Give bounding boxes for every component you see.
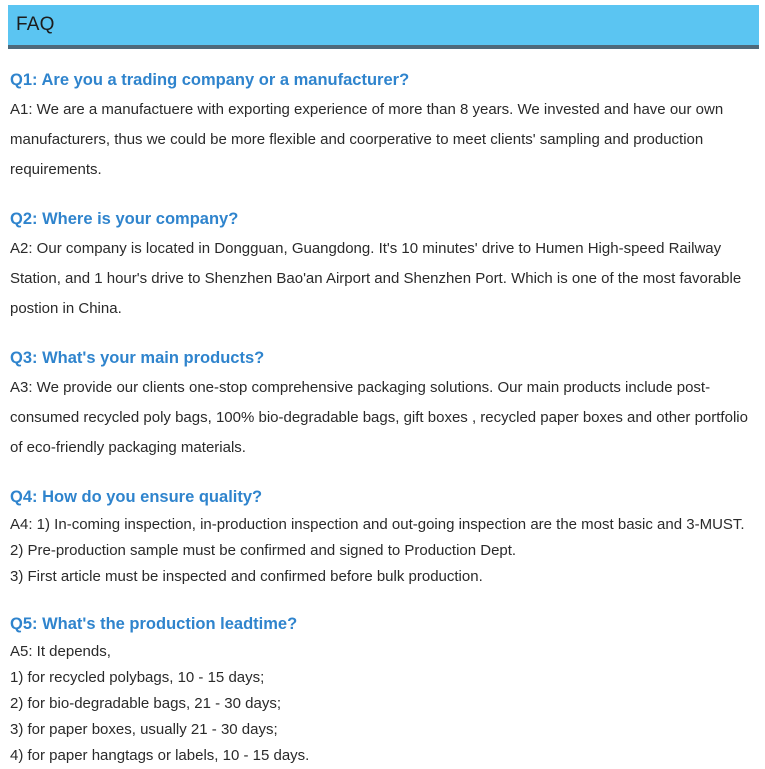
faq-answer-5: A5: It depends, 1) for recycled polybags… <box>10 639 755 769</box>
faq-content: Q1: Are you a trading company or a manuf… <box>10 68 755 769</box>
faq-answer-1: A1: We are a manufactuere with exporting… <box>10 95 755 185</box>
faq-answer-5-line-4: 3) for paper boxes, usually 21 - 30 days… <box>10 717 755 743</box>
faq-answer-5-line-3: 2) for bio-degradable bags, 21 - 30 days… <box>10 691 755 717</box>
faq-answer-4-line-3: 3) First article must be inspected and c… <box>10 564 755 590</box>
faq-answer-4: A4: 1) In-coming inspection, in-producti… <box>10 512 755 590</box>
faq-question-3: Q3: What's your main products? <box>10 346 755 370</box>
faq-item-5: Q5: What's the production leadtime? A5: … <box>10 612 755 769</box>
faq-answer-5-line-2: 1) for recycled polybags, 10 - 15 days; <box>10 665 755 691</box>
faq-item-4: Q4: How do you ensure quality? A4: 1) In… <box>10 485 755 590</box>
faq-item-1: Q1: Are you a trading company or a manuf… <box>10 68 755 185</box>
faq-question-1: Q1: Are you a trading company or a manuf… <box>10 68 755 92</box>
faq-question-5: Q5: What's the production leadtime? <box>10 612 755 636</box>
faq-answer-5-line-5: 4) for paper hangtags or labels, 10 - 15… <box>10 743 755 769</box>
faq-answer-4-line-2: 2) Pre-production sample must be confirm… <box>10 538 755 564</box>
faq-item-2: Q2: Where is your company? A2: Our compa… <box>10 207 755 324</box>
faq-question-2: Q2: Where is your company? <box>10 207 755 231</box>
faq-question-4: Q4: How do you ensure quality? <box>10 485 755 509</box>
faq-item-3: Q3: What's your main products? A3: We pr… <box>10 346 755 463</box>
faq-banner: FAQ <box>8 5 759 49</box>
faq-page: FAQ Q1: Are you a trading company or a m… <box>0 0 765 748</box>
faq-answer-3: A3: We provide our clients one-stop comp… <box>10 373 755 463</box>
faq-banner-title: FAQ <box>16 13 55 37</box>
faq-answer-4-line-1: A4: 1) In-coming inspection, in-producti… <box>10 512 755 538</box>
faq-answer-5-line-1: A5: It depends, <box>10 639 755 665</box>
faq-answer-2: A2: Our company is located in Dongguan, … <box>10 234 755 324</box>
